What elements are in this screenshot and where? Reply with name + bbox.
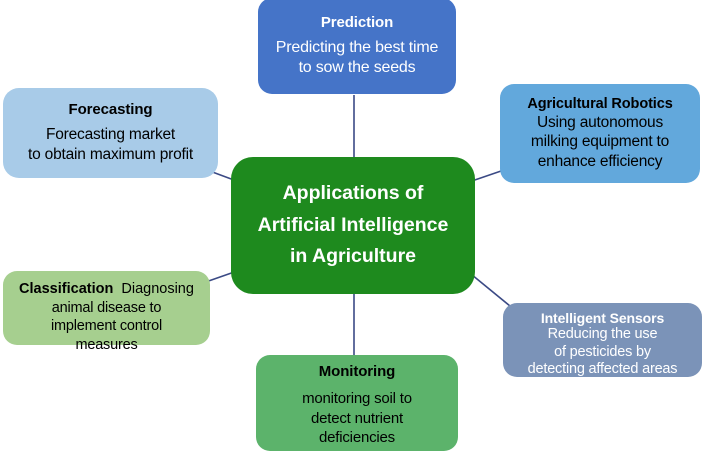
center-hub-node[interactable]: Applications of Artificial Intelligence … (231, 157, 475, 294)
center-hub-line-3: in Agriculture (290, 241, 416, 273)
ai-in-agriculture-diagram: Applications of Artificial Intelligence … (0, 0, 702, 452)
node-monitoring-body: monitoring soil to detect nutrient defic… (302, 389, 412, 448)
node-prediction-body: Predicting the best time to sow the seed… (276, 38, 438, 78)
node-classification-title-suffix: Diagnosing (121, 281, 194, 297)
node-agricultural-robotics-title: Agricultural Robotics (527, 96, 672, 112)
node-classification-body: animal disease to implement control meas… (51, 299, 162, 355)
center-hub-line-1: Applications of (283, 178, 424, 210)
node-classification-first-line: Classification Diagnosing (19, 280, 194, 299)
node-classification[interactable]: Classification Diagnosing animal disease… (3, 271, 210, 345)
node-agricultural-robotics[interactable]: Agricultural Robotics Using autonomous m… (500, 84, 700, 183)
node-prediction[interactable]: Prediction Predicting the best time to s… (258, 0, 456, 94)
node-prediction-title: Prediction (321, 14, 393, 31)
node-intelligent-sensors-body: Reducing the use of pesticides by detect… (528, 326, 678, 379)
node-agricultural-robotics-body: Using autonomous milking equipment to en… (531, 113, 669, 172)
node-monitoring-title: Monitoring (319, 363, 395, 380)
node-monitoring[interactable]: Monitoring monitoring soil to detect nut… (256, 355, 458, 451)
node-forecasting[interactable]: Forecasting Forecasting market to obtain… (3, 88, 218, 178)
node-forecasting-body: Forecasting market to obtain maximum pro… (28, 125, 193, 164)
node-classification-title: Classification (19, 281, 113, 297)
center-hub-line-2: Artificial Intelligence (258, 210, 449, 242)
node-intelligent-sensors-title: Intelligent Sensors (541, 310, 664, 326)
node-intelligent-sensors[interactable]: Intelligent Sensors Reducing the use of … (503, 303, 702, 377)
node-forecasting-title: Forecasting (69, 101, 153, 118)
